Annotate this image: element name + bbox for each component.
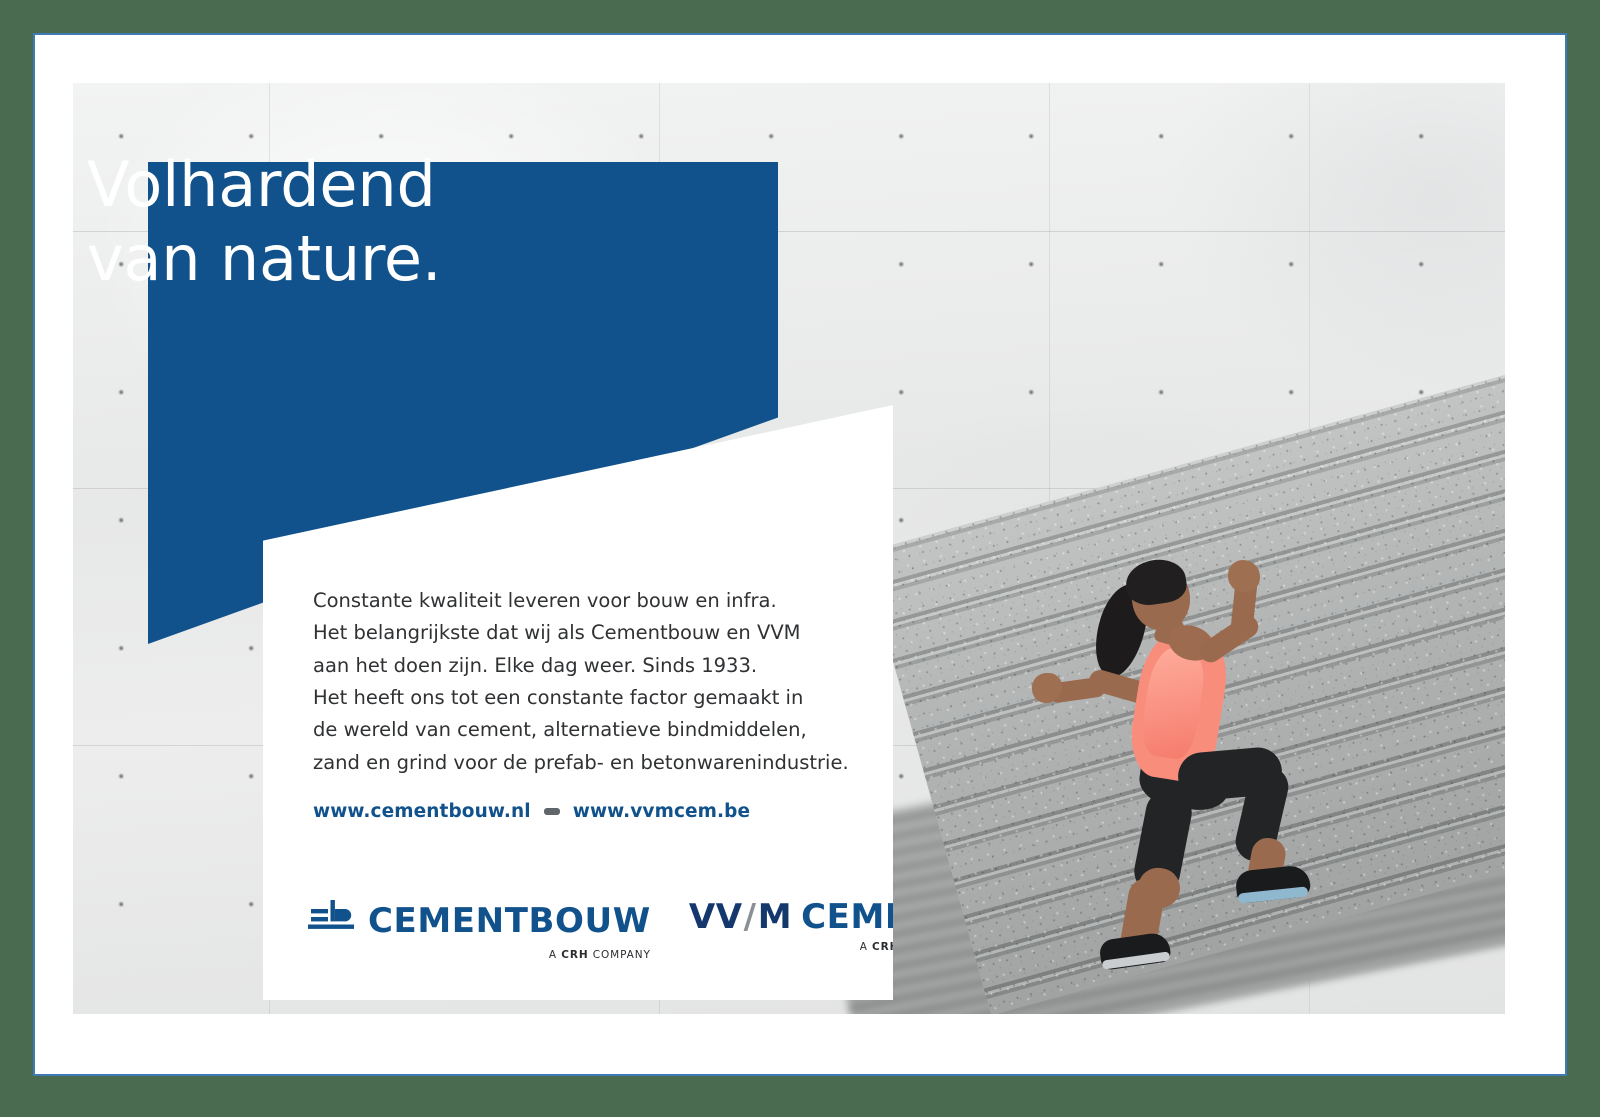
website-links: www.cementbouw.nl www.vvmcem.be bbox=[313, 801, 750, 822]
runner-figure bbox=[1028, 538, 1318, 928]
crh-tagline-brand: CRH bbox=[561, 949, 588, 961]
vvm-wordmark-slash: / bbox=[743, 897, 758, 937]
crh-tagline-prefix: A bbox=[549, 949, 561, 961]
link-cementbouw[interactable]: www.cementbouw.nl bbox=[313, 801, 531, 822]
vvm-wordmark-m: M bbox=[758, 897, 792, 937]
cementbouw-wordmark: CEMENTBOUW bbox=[368, 904, 651, 938]
logo-cementbouw: CEMENTBOUW A CRH COMPANY bbox=[308, 900, 651, 961]
link-vvmcem[interactable]: www.vvmcem.be bbox=[573, 801, 750, 822]
advert-page: Volhardend van nature. Constante kwalite… bbox=[33, 33, 1567, 1076]
logo-row: CEMENTBOUW A CRH COMPANY VV/MCEMENT A CR… bbox=[308, 900, 962, 961]
vvm-wordmark-vv: VV bbox=[689, 897, 743, 937]
headline-text: Volhardend van nature. bbox=[87, 148, 441, 296]
separator-dash-icon bbox=[544, 808, 560, 815]
crh-tagline-suffix: COMPANY bbox=[589, 949, 651, 961]
runner-front-hand bbox=[1228, 560, 1260, 592]
cementbouw-crh-tagline: A CRH COMPANY bbox=[308, 949, 651, 961]
body-copy: Constante kwaliteit leveren voor bouw en… bbox=[313, 585, 873, 779]
crh-tagline-prefix: A bbox=[860, 941, 872, 953]
cb-monogram-icon bbox=[308, 900, 354, 942]
